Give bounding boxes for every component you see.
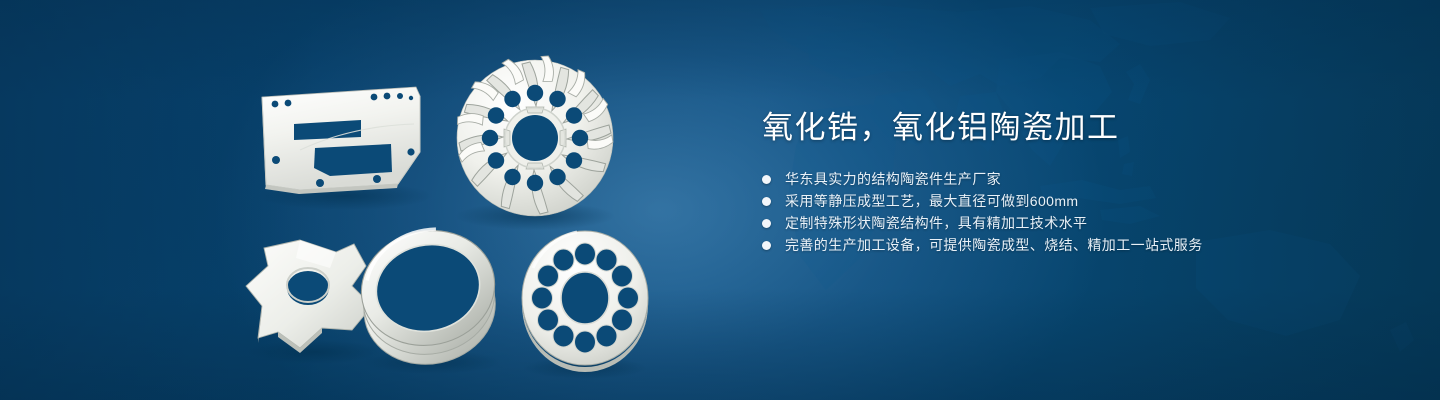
ceramic-products-image — [0, 0, 700, 400]
banner-headline: 氧化锆，氧化铝陶瓷加工 — [762, 108, 1382, 148]
bullet-dot-icon — [762, 197, 771, 206]
bullet-dot-icon — [762, 219, 771, 228]
feature-item: 定制特殊形状陶瓷结构件，具有精加工技术水平 — [762, 212, 1382, 234]
product-machined-plate — [257, 87, 433, 210]
product-ceramic-impeller — [455, 55, 615, 230]
feature-text: 完善的生产加工设备，可提供陶瓷成型、烧结、精加工一站式服务 — [785, 234, 1203, 256]
product-perforated-disc — [522, 231, 648, 379]
hero-banner: 氧化锆，氧化铝陶瓷加工 华东具实力的结构陶瓷件生产厂家 采用等静压成型工艺，最大… — [0, 0, 1440, 400]
feature-list: 华东具实力的结构陶瓷件生产厂家 采用等静压成型工艺，最大直径可做到600mm 定… — [762, 168, 1382, 256]
feature-text: 定制特殊形状陶瓷结构件，具有精加工技术水平 — [785, 212, 1087, 234]
feature-item: 采用等静压成型工艺，最大直径可做到600mm — [762, 190, 1382, 212]
bullet-dot-icon — [762, 175, 771, 184]
feature-text: 华东具实力的结构陶瓷件生产厂家 — [785, 168, 1001, 190]
feature-item: 完善的生产加工设备，可提供陶瓷成型、烧结、精加工一站式服务 — [762, 234, 1382, 256]
feature-item: 华东具实力的结构陶瓷件生产厂家 — [762, 168, 1382, 190]
banner-copy: 氧化锆，氧化铝陶瓷加工 华东具实力的结构陶瓷件生产厂家 采用等静压成型工艺，最大… — [762, 108, 1382, 256]
feature-text: 采用等静压成型工艺，最大直径可做到600mm — [785, 190, 1078, 212]
bullet-dot-icon — [762, 241, 771, 250]
